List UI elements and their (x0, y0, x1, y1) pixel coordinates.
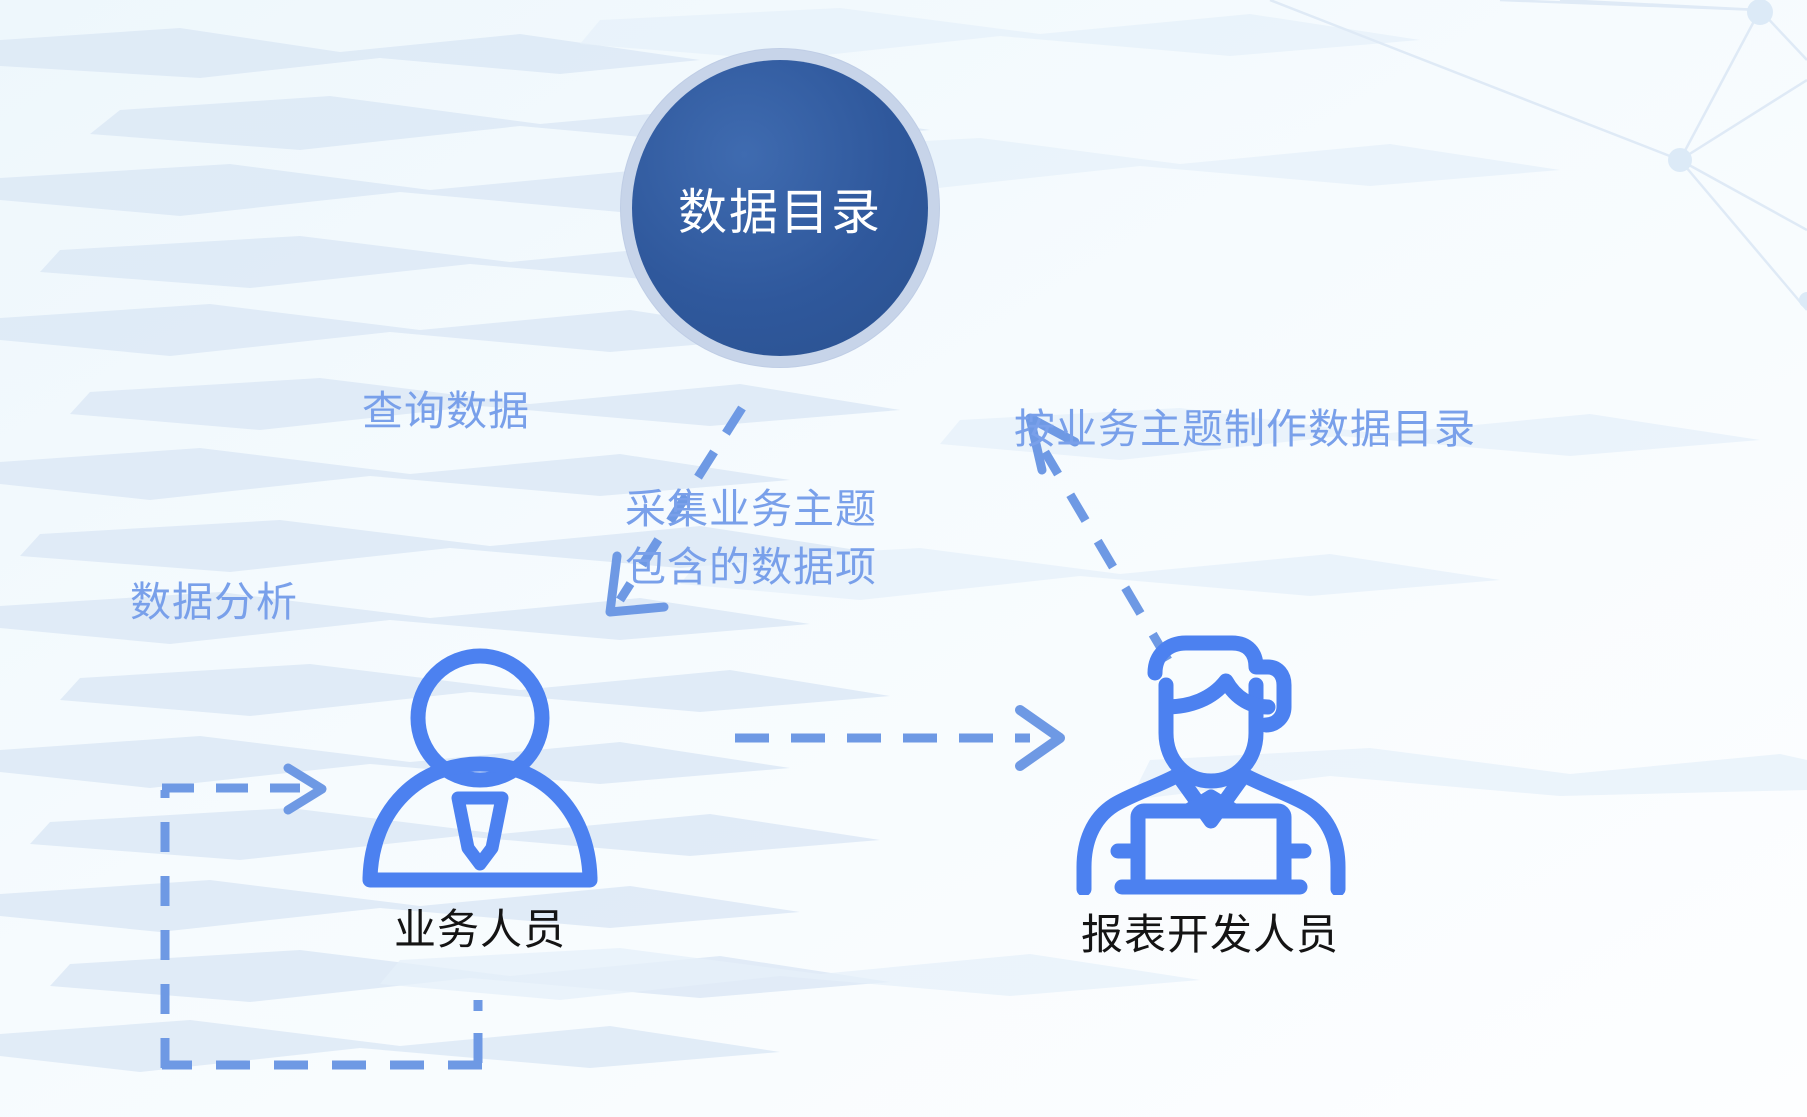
label-collect-items-line1: 采集业务主题 (625, 480, 877, 538)
data-catalog-label: 数据目录 (678, 173, 882, 244)
actor-business-person-label: 业务人员 (394, 896, 566, 957)
data-catalog-node[interactable]: 数据目录 (632, 60, 928, 356)
diagram-canvas: 数据目录 查询数据 按业务主题制作数据目录 采集业务主题 包含的数据项 数据分析… (0, 0, 1807, 1117)
label-data-analysis: 数据分析 (130, 573, 298, 631)
label-make-catalog: 按业务主题制作数据目录 (1014, 400, 1476, 458)
label-collect-items-line2: 包含的数据项 (625, 538, 877, 596)
actor-report-developer-label: 报表开发人员 (1081, 901, 1339, 962)
actor-report-developer[interactable]: 报表开发人员 (1000, 615, 1420, 962)
label-query-data: 查询数据 (362, 382, 530, 440)
actor-business-person[interactable]: 业务人员 (330, 640, 630, 957)
business-person-icon (350, 640, 610, 890)
report-developer-icon (1060, 615, 1360, 895)
label-collect-items: 采集业务主题 包含的数据项 (625, 480, 877, 596)
